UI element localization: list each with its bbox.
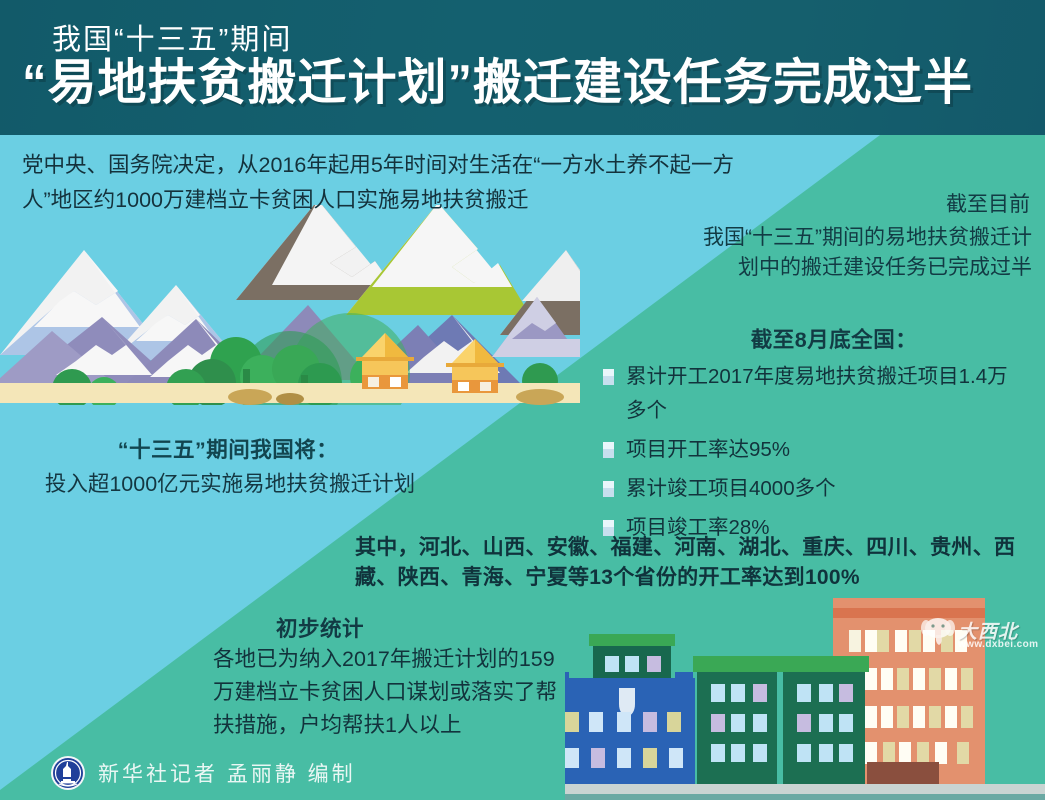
preliminary-body: 各地已为纳入2017年搬迁计划的159万建档立卡贫困人口谋划或落实了帮扶措施，户… xyxy=(213,643,573,742)
list-item: 累计竣工项目4000多个 xyxy=(603,472,1023,506)
list-item: 项目开工率达95% xyxy=(603,433,1023,467)
page-title: “易地扶贫搬迁计划”搬迁建设任务完成过半 xyxy=(22,53,973,113)
header-kicker: 我国“十三五”期间 xyxy=(52,16,292,58)
august-stats-list: 累计开工2017年度易地扶贫搬迁项目1.4万多个 项目开工率达95% 累计竣工项… xyxy=(603,360,1023,550)
infographic-canvas: 我国“十三五”期间 “易地扶贫搬迁计划”搬迁建设任务完成过半 xyxy=(0,0,1045,800)
list-item: 累计开工2017年度易地扶贫搬迁项目1.4万多个 xyxy=(603,360,1023,428)
so-far-body: 我国“十三五”期间的易地扶贫搬迁计划中的搬迁建设任务已完成过半 xyxy=(700,223,1032,283)
elephant-icon xyxy=(920,615,956,647)
site-watermark: 大西北 www.dxbei.com xyxy=(920,615,1038,657)
intro-paragraph: 党中央、国务院决定，从2016年起用5年时间对生活在“一方水土养不起一方人”地区… xyxy=(22,148,752,218)
august-stats-title: 截至8月底全国： xyxy=(700,323,968,354)
list-item-label: 项目开工率达95% xyxy=(626,433,1023,467)
bullet-square-icon xyxy=(603,442,614,458)
credit-text: 新华社记者 孟丽静 编制 xyxy=(98,758,356,788)
bullet-square-icon xyxy=(603,369,614,385)
provinces-paragraph: 其中，河北、山西、安徽、福建、河南、湖北、重庆、四川、贵州、西藏、陕西、青海、宁… xyxy=(355,533,1035,593)
header-banner: 我国“十三五”期间 “易地扶贫搬迁计划”搬迁建设任务完成过半 xyxy=(0,0,1045,135)
watermark-url: www.dxbei.com xyxy=(958,639,1038,650)
footer-credit: 新华社记者 孟丽静 编制 xyxy=(50,755,356,791)
plan-title: “十三五”期间我国将： xyxy=(18,433,438,464)
list-item-label: 累计开工2017年度易地扶贫搬迁项目1.4万多个 xyxy=(626,360,1023,428)
xinhua-logo-icon xyxy=(50,755,86,791)
list-item-label: 累计竣工项目4000多个 xyxy=(626,472,1023,506)
preliminary-title: 初步统计 xyxy=(205,612,435,643)
body-area: 党中央、国务院决定，从2016年起用5年时间对生活在“一方水土养不起一方人”地区… xyxy=(0,135,1045,800)
so-far-title: 截至目前 xyxy=(735,190,1030,220)
mountain-village-illustration xyxy=(0,205,580,405)
plan-body: 投入超1000亿元实施易地扶贫搬迁计划 xyxy=(10,467,450,498)
bullet-square-icon xyxy=(603,481,614,497)
